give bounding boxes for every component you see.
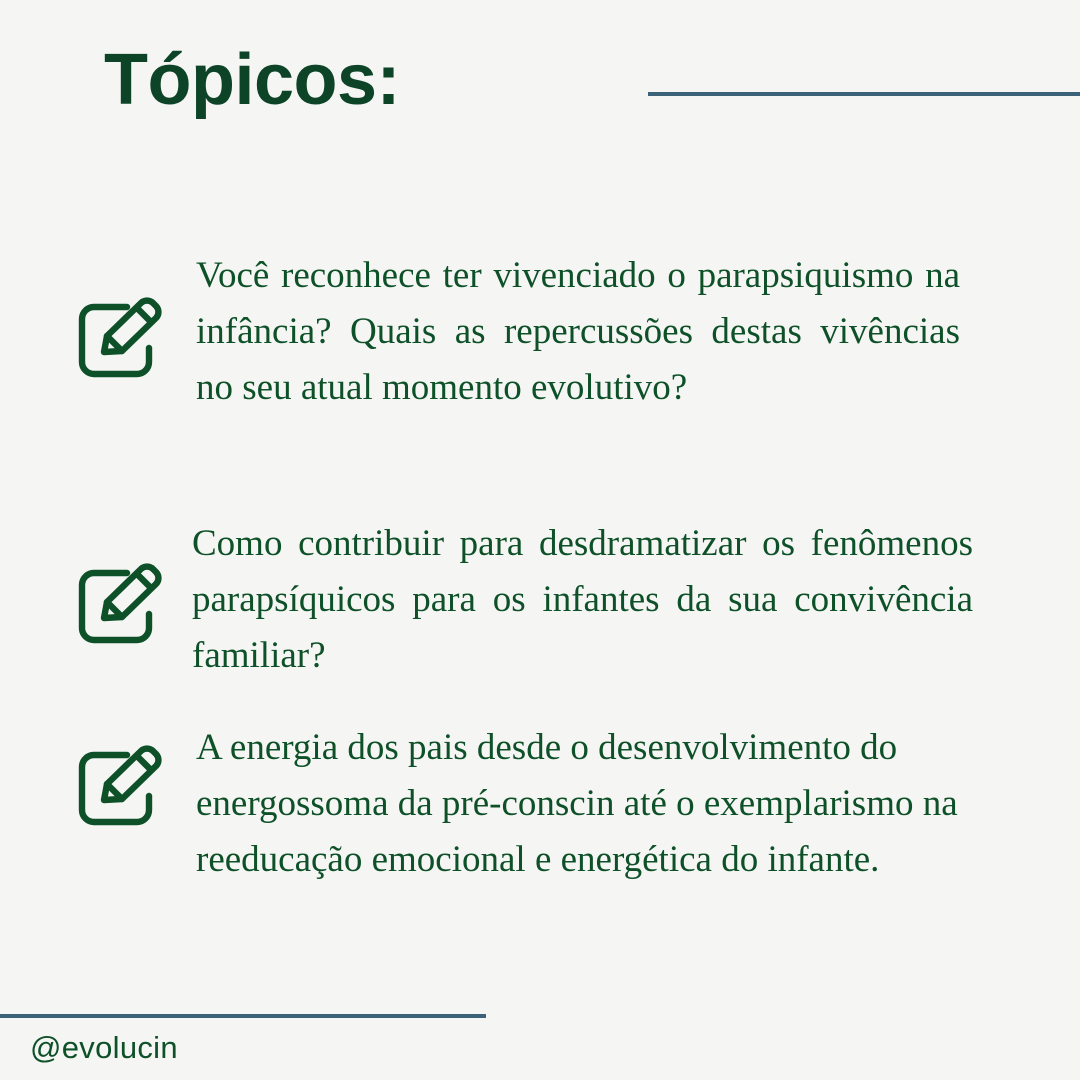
topics-list: Você reconhece ter vivenciado o parapsiq… [0,236,1080,946]
list-item: A energia dos pais desde o desenvolvimen… [0,716,1080,946]
slide-header: Tópicos: [0,0,1080,150]
topic-text: Como contribuir para desdramatizar os fe… [192,516,973,684]
social-handle: @evolucin [30,1030,178,1066]
list-item: Você reconhece ter vivenciado o parapsiq… [0,236,1080,504]
edit-pencil-square-icon [68,288,168,388]
edit-pencil-square-icon [68,554,168,654]
topic-text: Você reconhece ter vivenciado o parapsiq… [196,248,960,416]
footer-divider [0,1014,486,1018]
slide-footer: @evolucin [0,1000,1080,1080]
list-item: Como contribuir para desdramatizar os fe… [0,504,1080,716]
edit-pencil-square-icon [68,736,168,836]
page-title: Tópicos: [104,44,400,116]
topic-text: A energia dos pais desde o desenvolvimen… [196,720,986,888]
header-divider [648,92,1080,96]
slide-canvas: Tópicos: Você reconhece ter vivenciado o… [0,0,1080,1080]
